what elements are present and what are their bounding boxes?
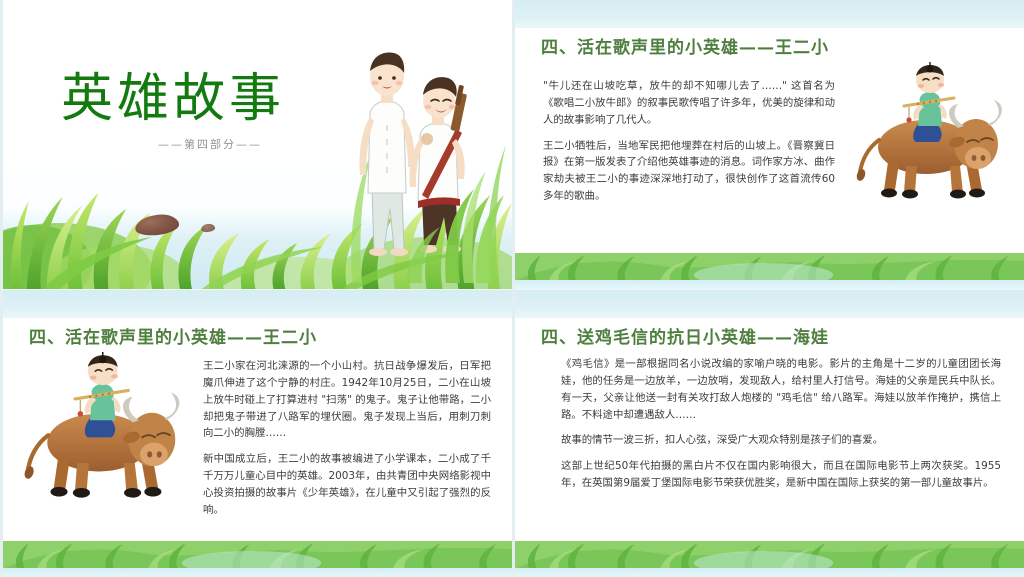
paragraph: 《鸡毛信》是一部根据同名小说改编的家喻户晓的电影。影片的主角是十二岁的儿童团团长…: [561, 356, 1001, 423]
bottom-band: [515, 253, 1024, 289]
slide-wang-erxiao-story[interactable]: 四、活在歌声里的小英雄——王二小: [0, 289, 512, 577]
slide-haiwa[interactable]: 四、送鸡毛信的抗日小英雄——海娃 《鸡毛信》是一部根据同名小说改编的家喻户晓的电…: [512, 289, 1024, 577]
panel-body: "牛儿还在山坡吃草，放牛的却不知哪儿去了……" 这首名为《歌唱二小放牛郎》的叙事…: [543, 78, 835, 205]
top-band: [3, 290, 512, 318]
paragraph: "牛儿还在山坡吃草，放牛的却不知哪儿去了……" 这首名为《歌唱二小放牛郎》的叙事…: [543, 78, 835, 129]
boy-riding-buffalo-illustration: [854, 62, 1014, 212]
foot-band: [3, 568, 512, 577]
top-band: [515, 0, 1024, 28]
bottom-band: [3, 541, 512, 577]
bottom-band: [515, 541, 1024, 577]
page-subtitle: ——第四部分——: [158, 136, 262, 152]
paragraph: 故事的情节一波三折，扣人心弦，深受广大观众特别是孩子们的喜爱。: [561, 432, 1001, 449]
grass-band-illustration: [3, 541, 512, 569]
paragraph: 王二小牺牲后，当地军民把他埋葬在村后的山坡上。《晋察冀日报》在第一版发表了介绍他…: [543, 138, 835, 205]
panel-heading: 四、活在歌声里的小英雄——王二小: [541, 33, 829, 58]
panel-heading: 四、活在歌声里的小英雄——王二小: [29, 323, 317, 348]
slide-title[interactable]: 英雄故事 ——第四部分——: [0, 0, 512, 289]
top-band: [515, 290, 1024, 318]
panel-body: 王二小家在河北涞源的一个小山村。抗日战争爆发后，日军把魔爪伸进了这个宁静的村庄。…: [203, 358, 491, 519]
slide-deck: 英雄故事 ——第四部分——: [0, 0, 1024, 577]
foot-band: [515, 280, 1024, 289]
boy-riding-buffalo-illustration: [21, 352, 193, 512]
panel-body: 《鸡毛信》是一部根据同名小说改编的家喻户晓的电影。影片的主角是十二岁的儿童团团长…: [561, 356, 1001, 492]
paragraph: 这部上世纪50年代拍摄的黑白片不仅在国内影响很大，而且在国际电影节上两次获奖。1…: [561, 458, 1001, 492]
grass-band-illustration: [515, 253, 1024, 281]
two-boys-illustration: [346, 33, 506, 283]
panel-heading: 四、送鸡毛信的抗日小英雄——海娃: [541, 323, 829, 348]
foot-band: [515, 568, 1024, 577]
paragraph: 新中国成立后，王二小的故事被编进了小学课本，二小成了千千万万儿童心目中的英雄。2…: [203, 451, 491, 518]
slide-wang-erxiao-song[interactable]: 四、活在歌声里的小英雄——王二小 "牛儿还在山坡吃草，放牛的却不知哪儿去了……"…: [512, 0, 1024, 289]
paragraph: 王二小家在河北涞源的一个小山村。抗日战争爆发后，日军把魔爪伸进了这个宁静的村庄。…: [203, 358, 491, 442]
page-title: 英雄故事: [61, 56, 285, 131]
grass-band-illustration: [515, 541, 1024, 569]
